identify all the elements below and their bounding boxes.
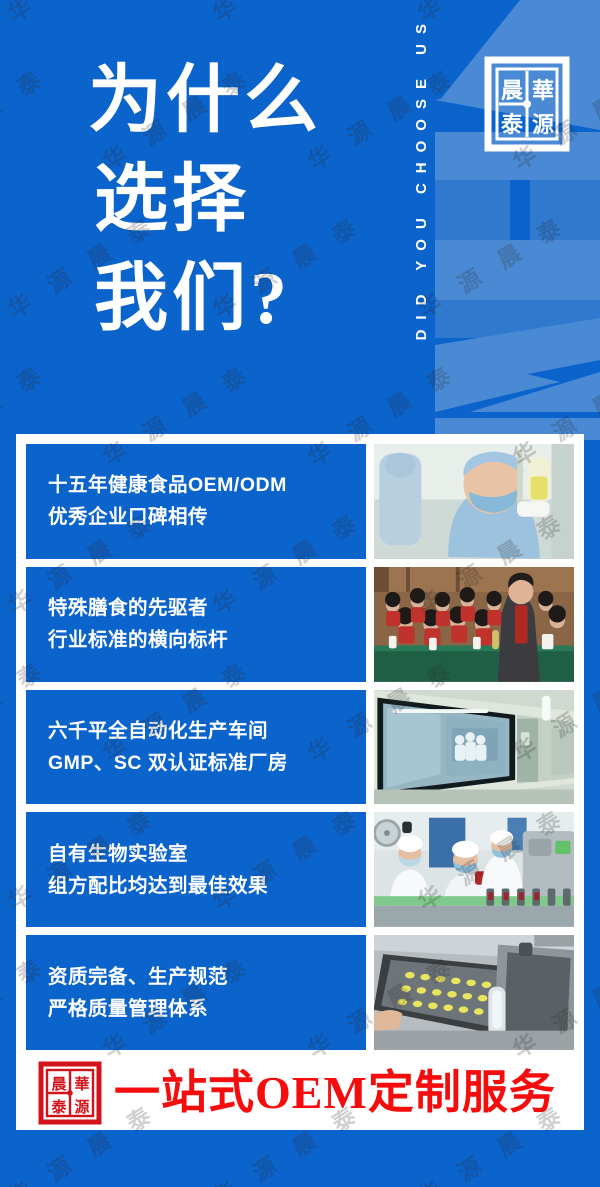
seal-glyph-hua: 華 (532, 78, 554, 103)
hero-section: 为什么 选择 我们? DID YOU CHOOSE US 晨 華 泰 源 (0, 0, 600, 440)
poster-root: 为什么 选择 我们? DID YOU CHOOSE US 晨 華 泰 源 (0, 0, 600, 1187)
feature-card-3-line-2: GMP、SC 双认证标准厂房 (48, 747, 344, 779)
features-frame: 十五年健康食品OEM/ODM 优秀企业口碑相传 (16, 434, 584, 1060)
feature-card-2-text: 特殊膳食的先驱者 行业标准的横向标杆 (26, 567, 366, 682)
seal-glyph-tai: 泰 (500, 112, 524, 137)
brand-seal-red-icon: 晨 華 泰 源 (38, 1061, 102, 1125)
feature-card-2[interactable]: 特殊膳食的先驱者 行业标准的横向标杆 (26, 567, 574, 682)
filling-line-workers-photo (374, 812, 574, 927)
feature-card-4-line-1: 自有生物实验室 (48, 838, 344, 870)
feature-card-2-line-2: 行业标准的横向标杆 (48, 624, 344, 656)
bottom-banner: 晨 華 泰 源 一站式OEM定制服务 (16, 1056, 584, 1130)
capsule-packing-machine-photo (374, 935, 574, 1050)
feature-card-1-line-1: 十五年健康食品OEM/ODM (48, 469, 344, 501)
seal-glyph-chen: 晨 (501, 78, 524, 103)
feature-card-2-photo (374, 567, 574, 682)
feature-card-2-line-1: 特殊膳食的先驱者 (48, 592, 344, 624)
feature-card-1[interactable]: 十五年健康食品OEM/ODM 优秀企业口碑相传 (26, 444, 574, 559)
title-line-2: 选择 (94, 151, 322, 250)
seal-glyph-yuan: 源 (532, 112, 554, 137)
page-title: 为什么 选择 我们? (88, 52, 322, 349)
vertical-caption-text: DID YOU CHOOSE US (414, 14, 429, 340)
feature-card-5-line-2: 严格质量管理体系 (48, 993, 344, 1025)
seal-red-glyph-tai: 泰 (50, 1098, 67, 1116)
feature-card-1-photo (374, 444, 574, 559)
feature-card-4[interactable]: 自有生物实验室 组方配比均达到最佳效果 (26, 812, 574, 927)
feature-card-1-text: 十五年健康食品OEM/ODM 优秀企业口碑相传 (26, 444, 366, 559)
features-list: 十五年健康食品OEM/ODM 优秀企业口碑相传 (26, 444, 574, 1050)
title-line-1: 为什么 (88, 52, 322, 151)
seal-red-glyph-yuan: 源 (74, 1098, 89, 1116)
conference-audience-photo (374, 567, 574, 682)
feature-card-3-photo (374, 690, 574, 805)
feature-card-1-line-2: 优秀企业口碑相传 (48, 501, 344, 533)
vertical-caption: DID YOU CHOOSE US (404, 14, 438, 406)
feature-card-3[interactable]: 六千平全自动化生产车间 GMP、SC 双认证标准厂房 (26, 690, 574, 805)
banner-slogan: 一站式OEM定制服务 (114, 1070, 556, 1116)
brand-seal-white-icon: 晨 華 泰 源 (484, 56, 570, 152)
feature-card-4-line-2: 组方配比均达到最佳效果 (48, 870, 344, 902)
feature-card-5-photo (374, 935, 574, 1050)
seal-stamp-red-icon: 晨 華 泰 源 (38, 1061, 102, 1125)
seal-red-glyph-hua: 華 (74, 1075, 89, 1093)
title-line-3: 我们? (94, 250, 322, 349)
feature-card-5-text: 资质完备、生产规范 严格质量管理体系 (26, 935, 366, 1050)
feature-card-3-text: 六千平全自动化生产车间 GMP、SC 双认证标准厂房 (26, 690, 366, 805)
seal-stamp-icon: 晨 華 泰 源 (484, 56, 570, 152)
feature-card-3-line-1: 六千平全自动化生产车间 (48, 715, 344, 747)
feature-card-5[interactable]: 资质完备、生产规范 严格质量管理体系 (26, 935, 574, 1050)
seal-red-glyph-chen: 晨 (51, 1075, 67, 1093)
lab-technician-photo (374, 444, 574, 559)
feature-card-5-line-1: 资质完备、生产规范 (48, 961, 344, 993)
feature-card-4-photo (374, 812, 574, 927)
clean-room-corridor-photo (374, 690, 574, 805)
feature-card-4-text: 自有生物实验室 组方配比均达到最佳效果 (26, 812, 366, 927)
